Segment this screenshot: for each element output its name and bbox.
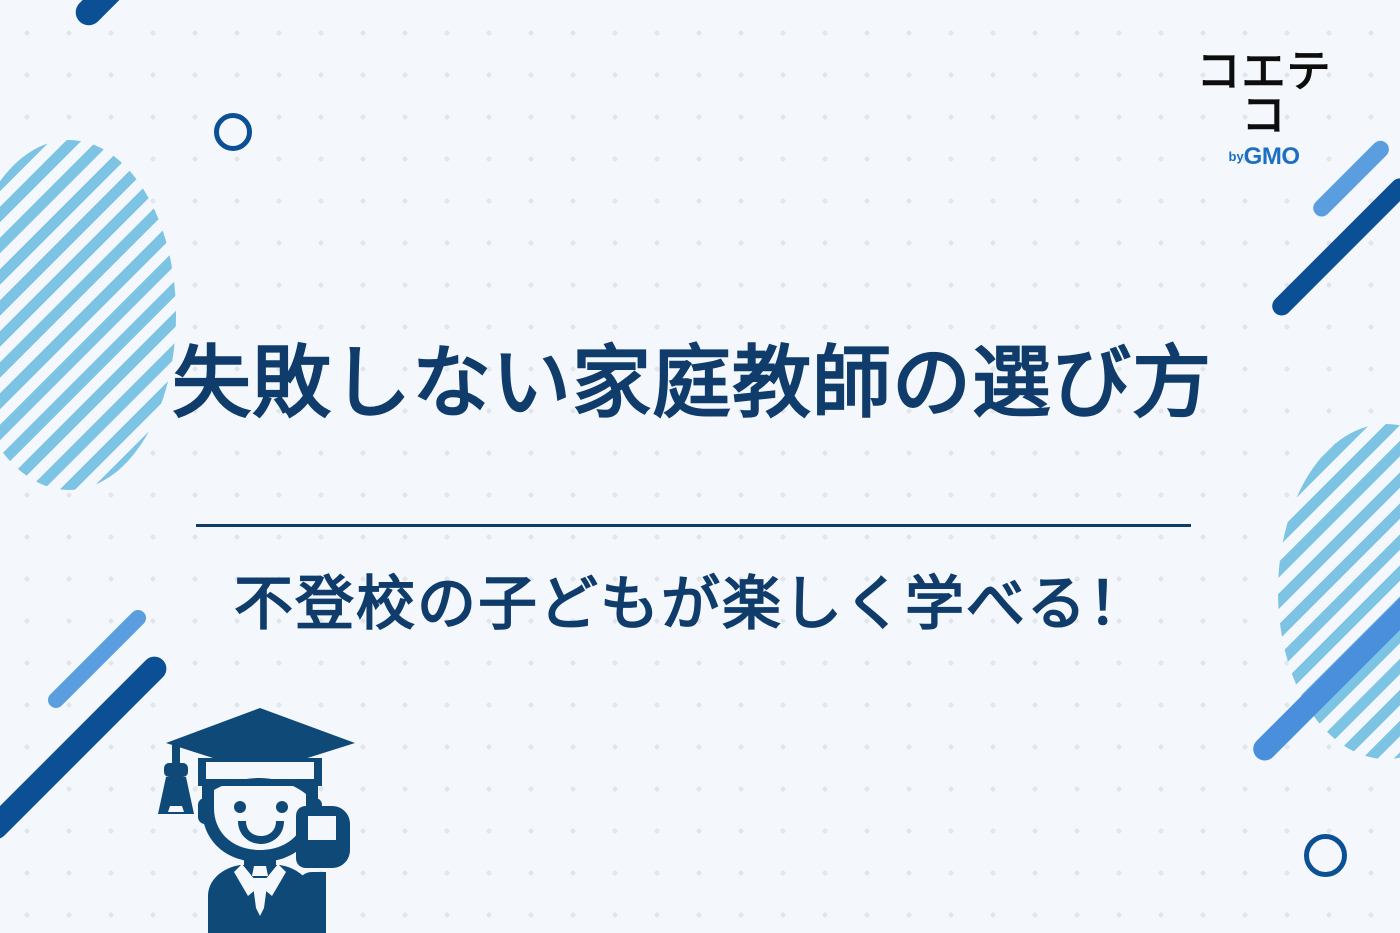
title-divider [196,524,1191,527]
circle-outline-top-left [214,113,252,151]
koeteco-logo[interactable]: コエテコ byGMO [1178,50,1350,169]
circle-outline-bottom-right [1304,834,1347,877]
logo-gmo-text: GMO [1244,143,1300,170]
logo-wordmark: コエテコ [1178,50,1350,138]
page-subtitle: 不登校の子どもが楽しく学べる！ [234,572,1234,637]
striped-circle-decoration-left [0,140,176,490]
banner-canvas: コエテコ byGMO 失敗しない家庭教師の選び方 不登校の子どもが楽しく学べる！ [0,0,1400,933]
logo-by-text: by [1229,149,1244,164]
page-title: 失敗しない家庭教師の選び方 [172,340,1272,427]
logo-byline: byGMO [1178,145,1350,169]
graduate-student-icon [150,690,400,933]
